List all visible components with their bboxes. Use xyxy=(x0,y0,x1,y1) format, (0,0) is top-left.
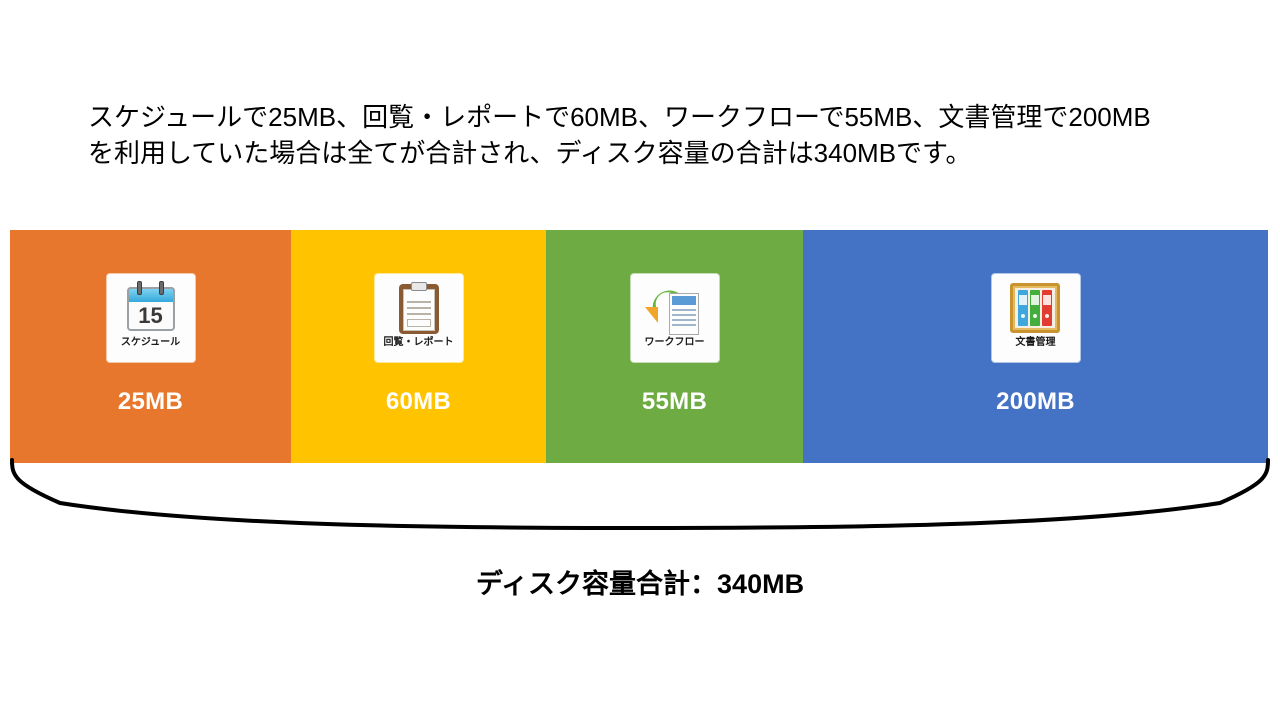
total-caption: ディスク容量合計：340MB xyxy=(0,562,1280,601)
icon-label-workflow: ワークフロー xyxy=(645,338,705,348)
icon-label-schedule: スケジュール xyxy=(121,338,180,348)
description-paragraph: スケジュールで25MB、回覧・レポートで60MB、ワークフローで55MB、文書管… xyxy=(88,100,1208,172)
workflow-icon-tile: ワークフロー xyxy=(631,274,719,362)
bar-segment-document: 文書管理 200MB xyxy=(803,230,1268,463)
segment-value-workflow: 55MB xyxy=(642,388,707,416)
icon-label-report: 回覧・レポート xyxy=(384,338,454,348)
clipboard-icon-tile: 回覧・レポート xyxy=(375,274,463,362)
bar-segment-workflow: ワークフロー 55MB xyxy=(546,230,803,463)
segment-value-report: 60MB xyxy=(386,388,451,416)
clipboard-report-icon xyxy=(387,279,451,337)
bar-segment-report: 回覧・レポート 60MB xyxy=(291,230,546,463)
segment-value-schedule: 25MB xyxy=(118,388,183,416)
icon-label-document: 文書管理 xyxy=(1016,338,1056,348)
document-binders-icon xyxy=(1004,279,1068,337)
calendar-icon-tile: 15 スケジュール xyxy=(107,274,195,362)
disk-usage-stacked-bar: 15 スケジュール 25MB 回覧・レポート 60MB xyxy=(10,230,1268,463)
binders-icon-tile: 文書管理 xyxy=(992,274,1080,362)
calendar-icon: 15 xyxy=(119,279,183,337)
segment-value-document: 200MB xyxy=(996,388,1075,416)
total-brace xyxy=(0,455,1280,555)
calendar-day-number: 15 xyxy=(127,301,175,331)
bar-segment-schedule: 15 スケジュール 25MB xyxy=(10,230,291,463)
workflow-icon xyxy=(643,279,707,337)
